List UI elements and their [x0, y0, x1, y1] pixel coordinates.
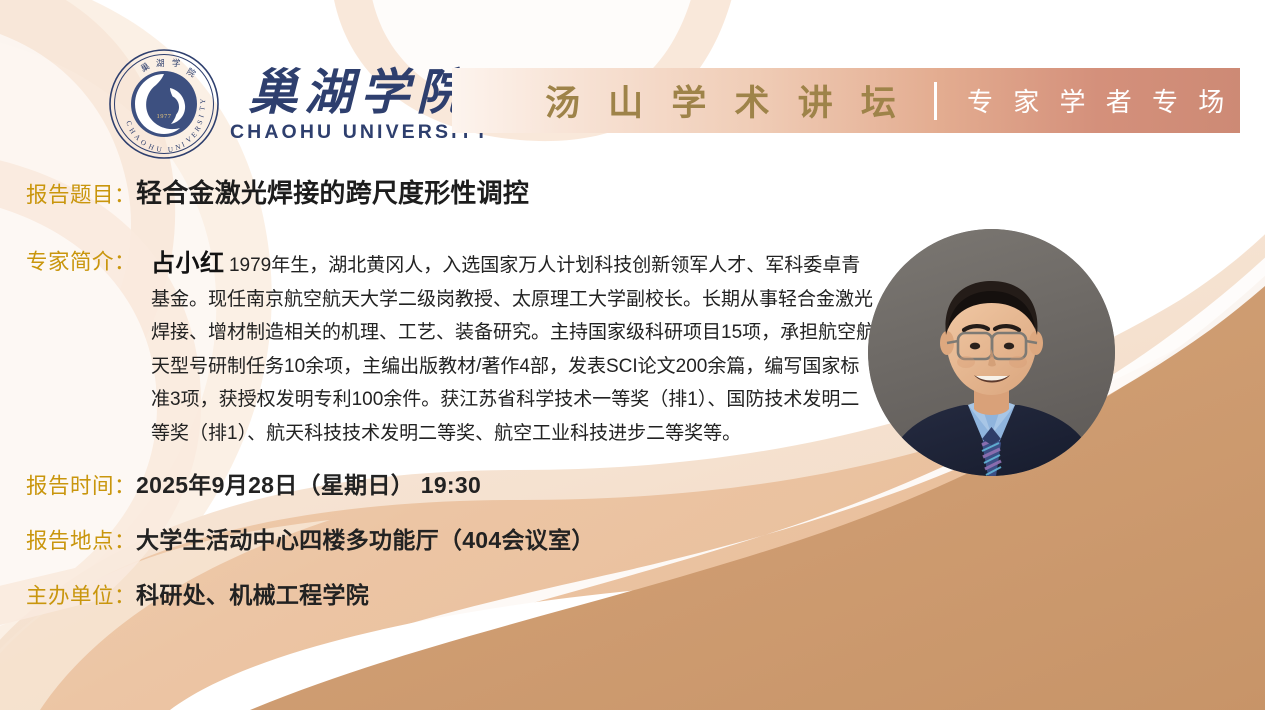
- speaker-portrait: [868, 229, 1115, 476]
- speaker-bio-body: 占小红 1979年生，湖北黄冈人，入选国家万人计划科技创新领军人才、军科委卓青基…: [151, 243, 877, 450]
- row-speaker-bio: 专家简介： 占小红 1979年生，湖北黄冈人，入选国家万人计划科技创新领军人才、…: [26, 243, 876, 450]
- speaker-bio-label: 专家简介：: [26, 245, 136, 276]
- report-time-label: 报告时间：: [26, 469, 136, 500]
- row-report-time: 报告时间： 2025年9月28日（星期日） 19:30: [26, 466, 481, 500]
- report-title-value: 轻合金激光焊接的跨尺度形性调控: [136, 180, 529, 206]
- lecture-poster: 1977 巢 湖 学 院 C H A O H U U N: [0, 0, 1265, 710]
- report-title-label: 报告题目：: [26, 178, 136, 209]
- row-organizer: 主办单位： 科研处、机械工程学院: [26, 576, 369, 610]
- row-report-place: 报告地点： 大学生活动中心四楼多功能厅（404会议室）: [26, 521, 595, 555]
- report-time-value: 2025年9月28日（星期日） 19:30: [136, 466, 481, 500]
- speaker-name: 占小红: [151, 250, 225, 277]
- report-place-label: 报告地点：: [26, 524, 136, 555]
- row-report-title: 报告题目： 轻合金激光焊接的跨尺度形性调控: [26, 178, 529, 209]
- organizer-value: 科研处、机械工程学院: [136, 576, 369, 610]
- speaker-bio-text: 1979年生，湖北黄冈人，入选国家万人计划科技创新领军人才、军科委卓青基金。现任…: [151, 255, 875, 444]
- report-place-value: 大学生活动中心四楼多功能厅（404会议室）: [136, 521, 595, 555]
- speaker-portrait-illustration: [868, 229, 1115, 476]
- organizer-label: 主办单位：: [26, 579, 136, 610]
